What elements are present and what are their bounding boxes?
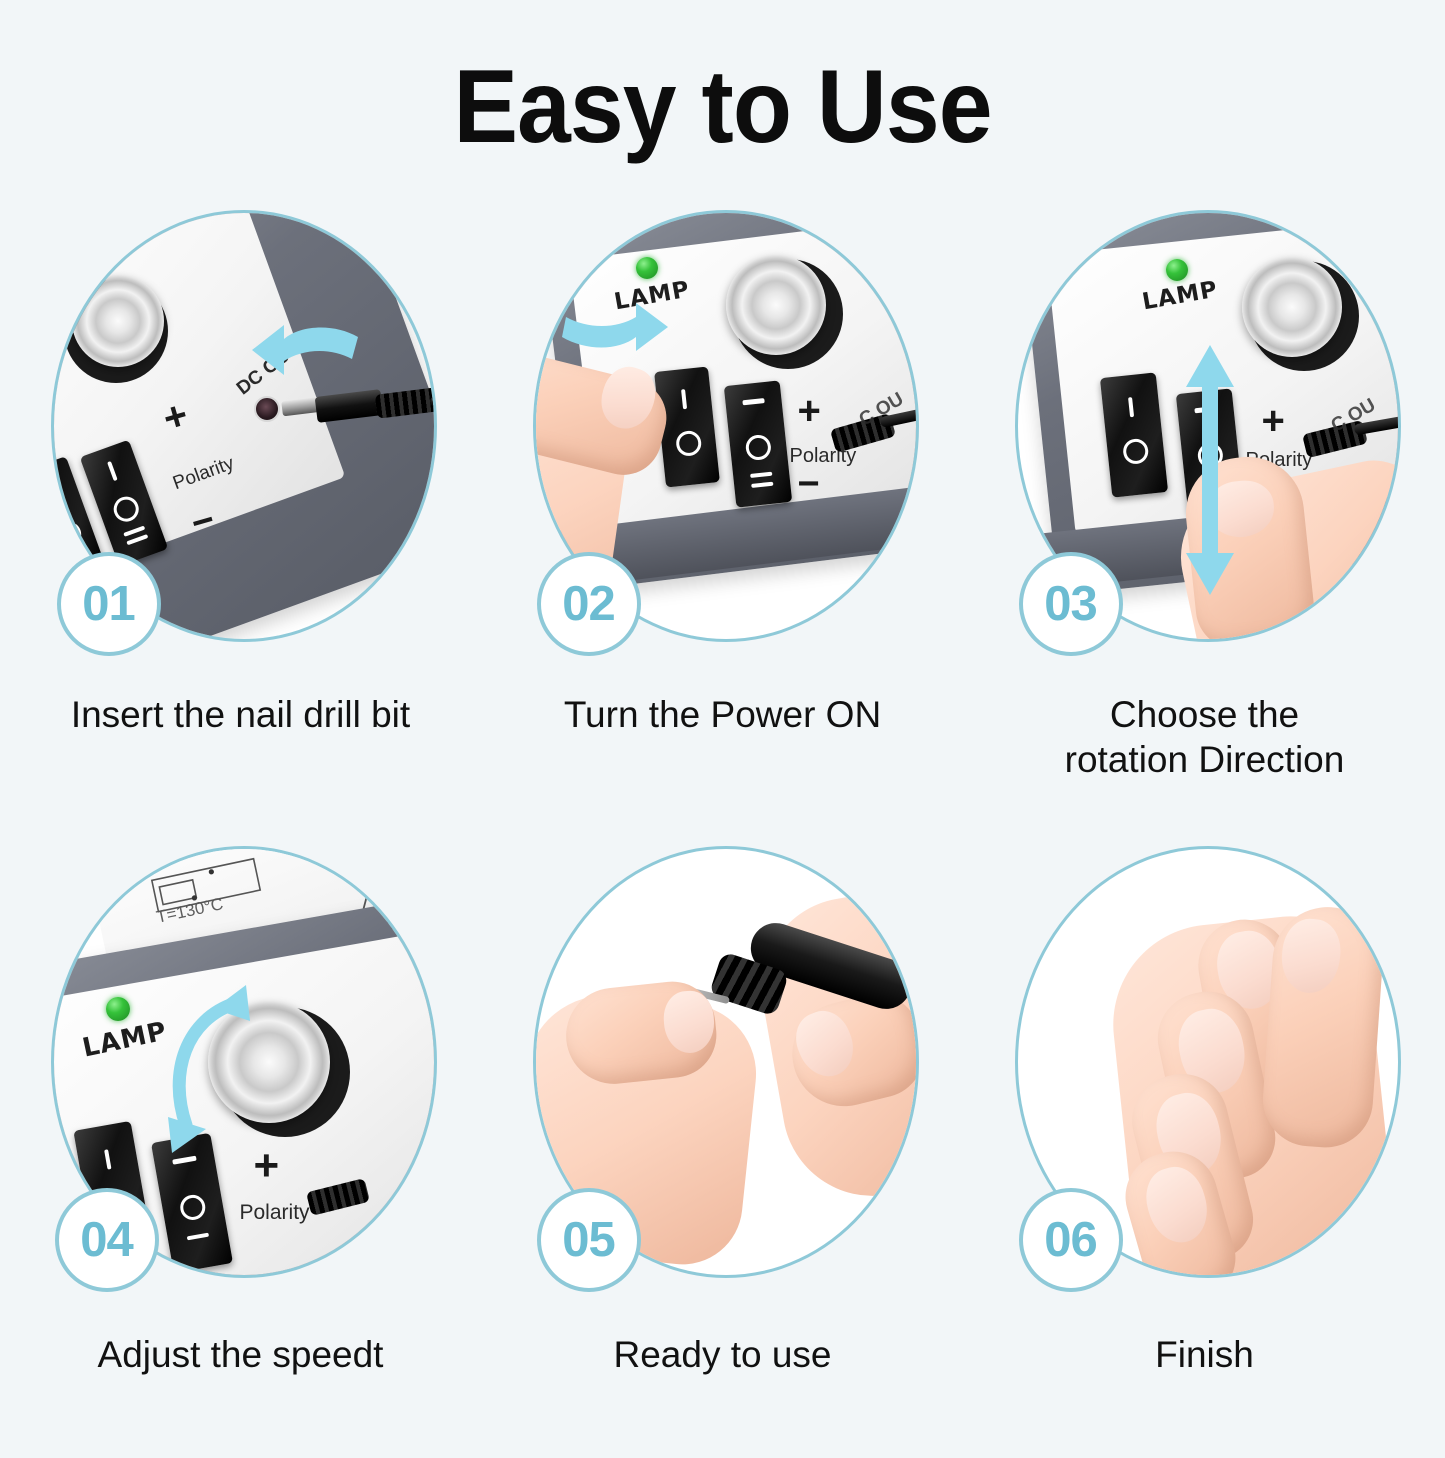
infographic-page: Easy to Use — [0, 0, 1445, 1445]
switch-line-glyph — [107, 461, 118, 481]
switch-double-line-glyph — [750, 472, 772, 478]
step-card-05: 05 Ready to use — [482, 858, 963, 1458]
switch-double-line-glyph — [186, 1233, 208, 1241]
step-card-02: LAMP — [482, 222, 963, 822]
switch-double-line-glyph — [751, 482, 773, 488]
step-02-photo-wrap: LAMP — [521, 222, 925, 626]
switch-circle-glyph — [110, 493, 142, 525]
switch-circle-glyph — [744, 434, 771, 461]
switch-double-line-glyph — [126, 534, 148, 545]
step-badge-02: 02 — [537, 552, 641, 656]
polarity-label: Polarity — [240, 1201, 310, 1225]
switch-circle-glyph — [178, 1193, 207, 1222]
step-caption-03-line1: Choose the — [964, 692, 1445, 737]
polarity-plus-label: + — [798, 389, 821, 434]
switch-circle-glyph — [674, 430, 701, 457]
speed-knob[interactable] — [1242, 257, 1342, 357]
step-05-photo-wrap: 05 — [521, 858, 925, 1262]
step-caption-04: Adjust the speedt — [0, 1332, 481, 1377]
switch-line-glyph — [104, 1149, 111, 1169]
step-caption-03-line2: rotation Direction — [964, 737, 1445, 782]
step-04-photo-wrap: T=130°C INDOOR — [39, 858, 443, 1262]
curved-double-arrow-icon — [150, 977, 270, 1167]
step-badge-06: 06 — [1019, 1188, 1123, 1292]
step-01-photo-wrap: DC OUT — [39, 222, 443, 626]
speed-knob[interactable] — [72, 275, 164, 367]
step-06-photo-wrap: 06 — [1003, 858, 1407, 1262]
page-title: Easy to Use — [51, 48, 1395, 167]
switch-line-glyph — [742, 398, 764, 405]
polarity-minus-label: − — [798, 463, 820, 506]
steps-grid: DC OUT — [0, 222, 1445, 1458]
lamp-led-indicator — [636, 257, 658, 279]
polarity-plus-label: + — [1262, 399, 1285, 444]
step-badge-01: 01 — [57, 552, 161, 656]
lamp-led-indicator — [1166, 259, 1188, 281]
step-card-04: T=130°C INDOOR — [0, 858, 481, 1458]
up-down-arrow-icon — [1170, 345, 1250, 595]
step-badge-03: 03 — [1019, 552, 1123, 656]
step-caption-06: Finish — [964, 1332, 1445, 1377]
step-caption-02: Turn the Power ON — [482, 692, 963, 737]
right-arrow-icon — [552, 301, 672, 371]
dc-out-port — [254, 396, 280, 422]
switch-line-glyph — [54, 481, 58, 501]
power-rocker-switch[interactable] — [1099, 372, 1167, 497]
polarity-rocker-switch[interactable] — [723, 380, 791, 507]
step-caption-05: Ready to use — [482, 1332, 963, 1377]
step-badge-04: 04 — [55, 1188, 159, 1292]
steps-row-2: T=130°C INDOOR — [0, 858, 1445, 1458]
step-caption-03: Choose the rotation Direction — [964, 692, 1445, 782]
step-badge-05: 05 — [537, 1188, 641, 1292]
step-card-06: 06 Finish — [964, 858, 1445, 1458]
speed-knob[interactable] — [726, 255, 826, 355]
lamp-led-indicator — [106, 997, 130, 1021]
step-card-01: DC OUT — [0, 222, 481, 822]
left-arrow-icon — [248, 321, 368, 391]
steps-row-1: DC OUT — [0, 222, 1445, 822]
step-card-03: LAMP + — [964, 222, 1445, 822]
switch-line-glyph — [681, 389, 687, 409]
switch-circle-glyph — [1121, 438, 1148, 465]
switch-line-glyph — [1128, 397, 1134, 417]
step-caption-01: Insert the nail drill bit — [0, 692, 481, 737]
step-03-photo-wrap: LAMP + — [1003, 222, 1407, 626]
switch-circle-glyph — [54, 518, 85, 550]
